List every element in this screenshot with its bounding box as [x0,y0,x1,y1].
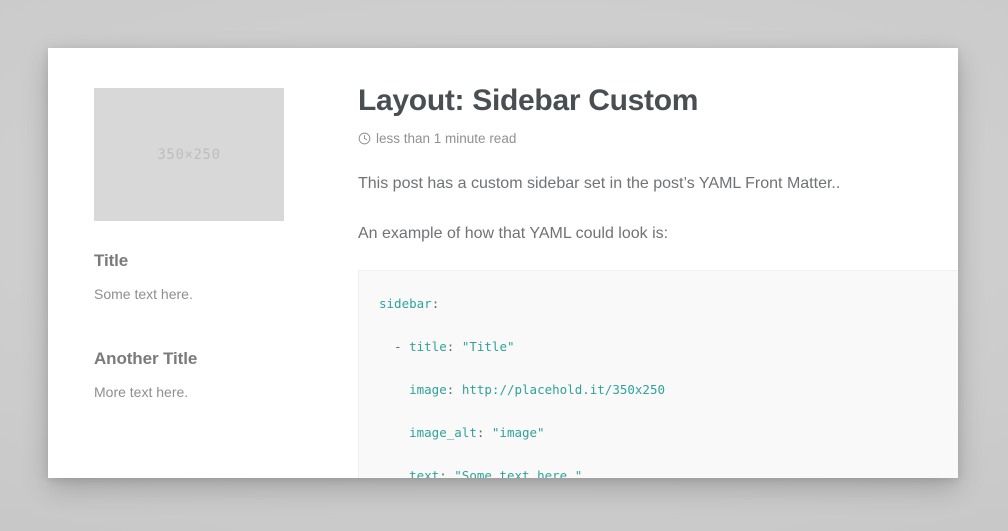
sidebar-block-1: Title Some text here. [94,251,294,305]
read-time-label: less than 1 minute read [376,131,516,146]
sidebar-placeholder-image[interactable]: 350×250 [94,88,284,221]
code-token-punct: : [439,468,454,479]
code-token-key: image [409,382,447,397]
code-line: image_alt: "image" [379,422,958,444]
code-token-punct: : [447,382,462,397]
code-token-plain [379,382,409,397]
code-line: sidebar: [379,293,958,315]
sidebar-block-1-text: Some text here. [94,285,294,305]
yaml-code-block[interactable]: sidebar: - title: "Title" image: http://… [358,270,958,479]
article-body: Layout: Sidebar Custom less than 1 minut… [358,84,958,478]
code-token-plain [379,425,409,440]
code-token-str: "Some text here." [454,468,582,479]
code-token-punct: : [447,339,462,354]
placeholder-dimensions-label: 350×250 [157,147,220,163]
code-line: text: "Some text here." [379,465,958,479]
clock-icon [358,132,371,145]
code-token-key: title [409,339,447,354]
code-token-str: "Title" [462,339,515,354]
page-title: Layout: Sidebar Custom [358,84,958,119]
code-token-dash: - [379,339,409,354]
code-token-key: image_alt [409,425,477,440]
code-line: image: http://placehold.it/350x250 [379,379,958,401]
sidebar-block-2-text: More text here. [94,383,294,403]
custom-sidebar: 350×250 Title Some text here. Another Ti… [94,88,294,402]
article-paragraph-1: This post has a custom sidebar set in th… [358,172,958,196]
code-token-key: sidebar [379,296,432,311]
code-token-plain [379,468,409,479]
code-token-str: "image" [492,425,545,440]
code-token-key: text [409,468,439,479]
code-token-plain: http://placehold.it/350x250 [462,382,665,397]
sidebar-block-2-title: Another Title [94,349,294,369]
code-token-punct: : [477,425,492,440]
code-line: - title: "Title" [379,336,958,358]
article-paragraph-2: An example of how that YAML could look i… [358,222,958,246]
read-time-meta: less than 1 minute read [358,131,958,146]
sidebar-block-2: Another Title More text here. [94,349,294,403]
yaml-code-content: sidebar: - title: "Title" image: http://… [379,293,958,479]
content-card: 350×250 Title Some text here. Another Ti… [48,48,958,478]
code-token-punct: : [432,296,440,311]
sidebar-block-1-title: Title [94,251,294,271]
card-inner: 350×250 Title Some text here. Another Ti… [48,48,958,478]
